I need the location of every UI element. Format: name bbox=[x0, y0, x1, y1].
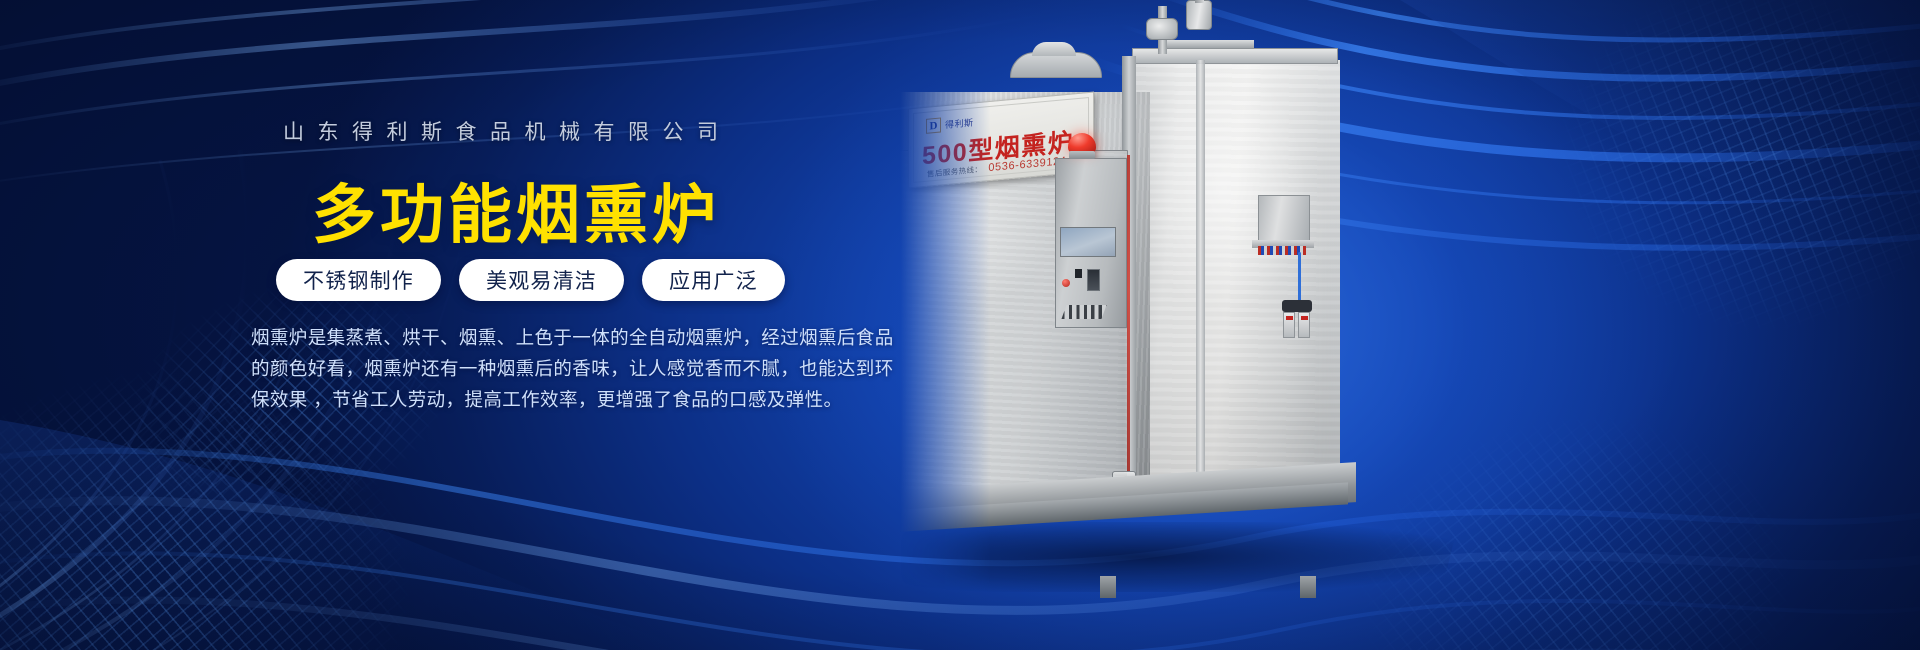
frl-bowl-1 bbox=[1283, 312, 1295, 338]
keypad-icon bbox=[1087, 269, 1100, 291]
frl-manifold bbox=[1282, 300, 1312, 312]
steam-pipe-horizontal bbox=[1158, 40, 1254, 48]
junction-box bbox=[1258, 195, 1310, 243]
logo-wordmark: 得利斯 bbox=[945, 116, 974, 132]
banner-content: 山东得利斯食品机械有限公司 多功能烟熏炉 不锈钢制作 美观易清洁 应用广泛 烟熏… bbox=[0, 0, 900, 650]
feature-badge-easy-clean[interactable]: 美观易清洁 bbox=[459, 259, 624, 301]
description-line-3: 保效果 ，节省工人劳动，提高工作效率，更增强了食品的口感及弹性。 bbox=[251, 384, 811, 415]
frl-bowl-2 bbox=[1298, 312, 1310, 338]
hotline-label: 售后服务热线： bbox=[927, 164, 982, 180]
leveling-foot-mid bbox=[1100, 576, 1116, 598]
steam-valve-2 bbox=[1186, 0, 1212, 30]
logo-mark-icon: D bbox=[926, 117, 941, 133]
oven-base-plinth bbox=[836, 462, 1356, 534]
exhaust-hood-cap bbox=[1032, 42, 1076, 56]
hotline-number: 0536-6339124 bbox=[988, 155, 1066, 174]
signboard-inner-border bbox=[913, 97, 1089, 183]
feature-badge-list: 不锈钢制作 美观易清洁 应用广泛 bbox=[276, 259, 785, 301]
mesh-pattern-top-right bbox=[1404, 0, 1920, 442]
control-panel bbox=[1055, 158, 1127, 328]
oven-door bbox=[870, 150, 1128, 495]
mesh-pattern-bottom-right bbox=[1279, 382, 1882, 650]
ground-shadow bbox=[821, 522, 1458, 592]
company-name: 山东得利斯食品机械有限公司 bbox=[283, 116, 732, 146]
brand-logo: D 得利斯 bbox=[926, 115, 974, 134]
product-photo: D 得利斯 500型烟熏炉 售后服务热线： 0536-6339124 bbox=[900, 0, 1920, 650]
product-description: 烟熏炉是集蒸煮、烘干、烟熏、上色于一体的全自动烟熏炉，经过烟熏后食品 的颜色好看… bbox=[251, 322, 811, 415]
door-latch bbox=[1112, 471, 1136, 488]
toggle-switch-icon bbox=[1075, 269, 1082, 278]
page-title: 多功能烟熏炉 bbox=[312, 164, 720, 256]
steam-pipe-vertical bbox=[1158, 6, 1167, 54]
wire-bundle bbox=[1258, 246, 1306, 255]
door-seal-strip bbox=[1127, 155, 1130, 491]
oven-corner-pillar-secondary bbox=[1196, 60, 1205, 480]
description-line-2: 的颜色好看，烟熏炉还有一种烟熏后的香味，让人感觉香而不腻，也能达到环 bbox=[251, 353, 811, 384]
oven-base-plinth-shadow bbox=[836, 482, 1348, 535]
leveling-foot-right bbox=[1300, 576, 1316, 598]
machine-signboard: D 得利斯 500型烟熏炉 售后服务热线： 0536-6339124 bbox=[908, 92, 1094, 189]
signboard-hotline: 售后服务热线： 0536-6339124 bbox=[927, 155, 1066, 180]
promo-banner: D 得利斯 500型烟熏炉 售后服务热线： 0536-6339124 bbox=[0, 0, 1920, 650]
beacon-dome-icon bbox=[1068, 133, 1096, 153]
feature-badge-wide-use[interactable]: 应用广泛 bbox=[642, 259, 785, 301]
feature-badge-stainless[interactable]: 不锈钢制作 bbox=[276, 259, 441, 301]
description-line-1: 烟熏炉是集蒸煮、烘干、烟熏、上色于一体的全自动烟熏炉，经过烟熏后食品 bbox=[251, 322, 811, 353]
indicator-led-icon bbox=[1062, 279, 1070, 287]
exhaust-hood bbox=[1010, 52, 1102, 78]
oven-top-platform bbox=[1132, 48, 1338, 64]
air-filter-regulator bbox=[1280, 300, 1314, 338]
panel-vent bbox=[1061, 305, 1106, 319]
warning-beacon bbox=[1068, 133, 1096, 159]
steam-valve-1 bbox=[1146, 18, 1178, 40]
signboard-title: 500型烟熏炉 bbox=[922, 122, 1074, 172]
beacon-base bbox=[1069, 151, 1095, 159]
control-panel-display bbox=[1060, 227, 1116, 257]
junction-box-shelf bbox=[1252, 240, 1314, 248]
oven-side-panel bbox=[1128, 60, 1340, 490]
oven-corner-pillar bbox=[1122, 56, 1136, 492]
control-panel-buttons bbox=[1062, 269, 1100, 291]
air-hose bbox=[1298, 252, 1301, 310]
